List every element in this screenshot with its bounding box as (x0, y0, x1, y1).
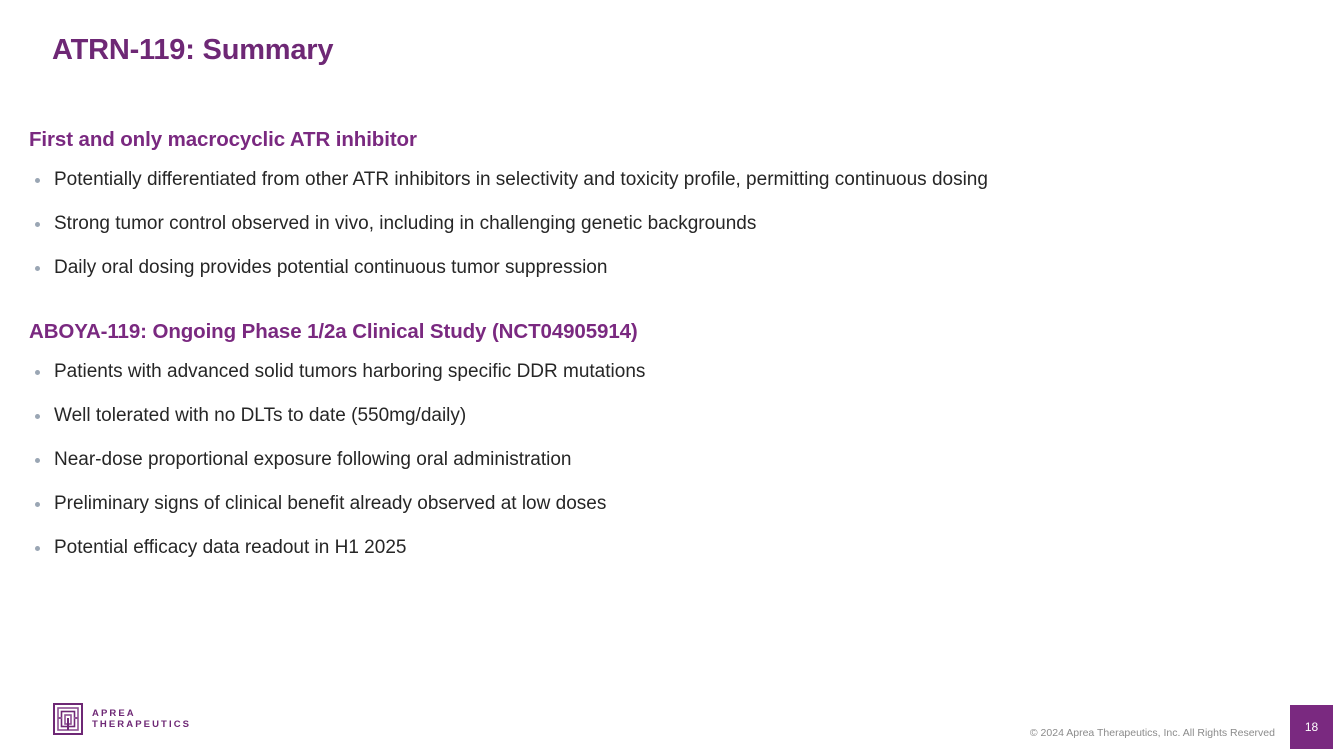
bullet-dot-icon (35, 222, 40, 227)
list-item: Daily oral dosing provides potential con… (29, 246, 1303, 290)
bullet-dot-icon (35, 266, 40, 271)
logo-word-aprea: APREA (92, 708, 191, 719)
list-item-label: Daily oral dosing provides potential con… (54, 257, 607, 278)
slide-body: First and only macrocyclic ATR inhibitor… (29, 128, 1303, 570)
list-item: Strong tumor control observed in vivo, i… (29, 202, 1303, 246)
logo-wordmark: APREA THERAPEUTICS (92, 708, 191, 730)
aprea-labyrinth-logo-icon (53, 703, 83, 735)
bullet-dot-icon (35, 370, 40, 375)
section-aboya-119-ongoing-phase-1-2a-clinical-study: ABOYA-119: Ongoing Phase 1/2a Clinical S… (29, 320, 1303, 570)
bullet-dot-icon (35, 178, 40, 183)
list-item: Preliminary signs of clinical benefit al… (29, 482, 1303, 526)
list-item: Potentially differentiated from other AT… (29, 158, 1303, 202)
section-heading: First and only macrocyclic ATR inhibitor (29, 128, 1303, 152)
list-item: Well tolerated with no DLTs to date (550… (29, 394, 1303, 438)
bullet-dot-icon (35, 546, 40, 551)
page-title: ATRN-119: Summary (52, 34, 333, 67)
list-item: Near-dose proportional exposure followin… (29, 438, 1303, 482)
list-item-label: Potentially differentiated from other AT… (54, 169, 988, 190)
list-item-label: Strong tumor control observed in vivo, i… (54, 213, 756, 234)
slide: ATRN-119: Summary First and only macrocy… (0, 0, 1333, 749)
company-logo: APREA THERAPEUTICS (53, 703, 191, 735)
bullet-list: Potentially differentiated from other AT… (29, 158, 1303, 290)
list-item-label: Patients with advanced solid tumors harb… (54, 361, 645, 382)
bullet-dot-icon (35, 458, 40, 463)
section-first-and-only-macrocyclic-atr-inhibitor: First and only macrocyclic ATR inhibitor… (29, 128, 1303, 290)
list-item-label: Near-dose proportional exposure followin… (54, 449, 572, 470)
bullet-dot-icon (35, 502, 40, 507)
page-number-badge: 18 (1290, 705, 1333, 749)
list-item-label: Potential efficacy data readout in H1 20… (54, 537, 406, 558)
list-item: Potential efficacy data readout in H1 20… (29, 526, 1303, 570)
bullet-list: Patients with advanced solid tumors harb… (29, 350, 1303, 570)
copyright-notice: © 2024 Aprea Therapeutics, Inc. All Righ… (1030, 727, 1275, 739)
list-item-label: Well tolerated with no DLTs to date (550… (54, 405, 466, 426)
list-item-label: Preliminary signs of clinical benefit al… (54, 493, 606, 514)
bullet-dot-icon (35, 414, 40, 419)
list-item: Patients with advanced solid tumors harb… (29, 350, 1303, 394)
section-heading: ABOYA-119: Ongoing Phase 1/2a Clinical S… (29, 320, 1303, 344)
logo-word-therapeutics: THERAPEUTICS (92, 719, 191, 730)
